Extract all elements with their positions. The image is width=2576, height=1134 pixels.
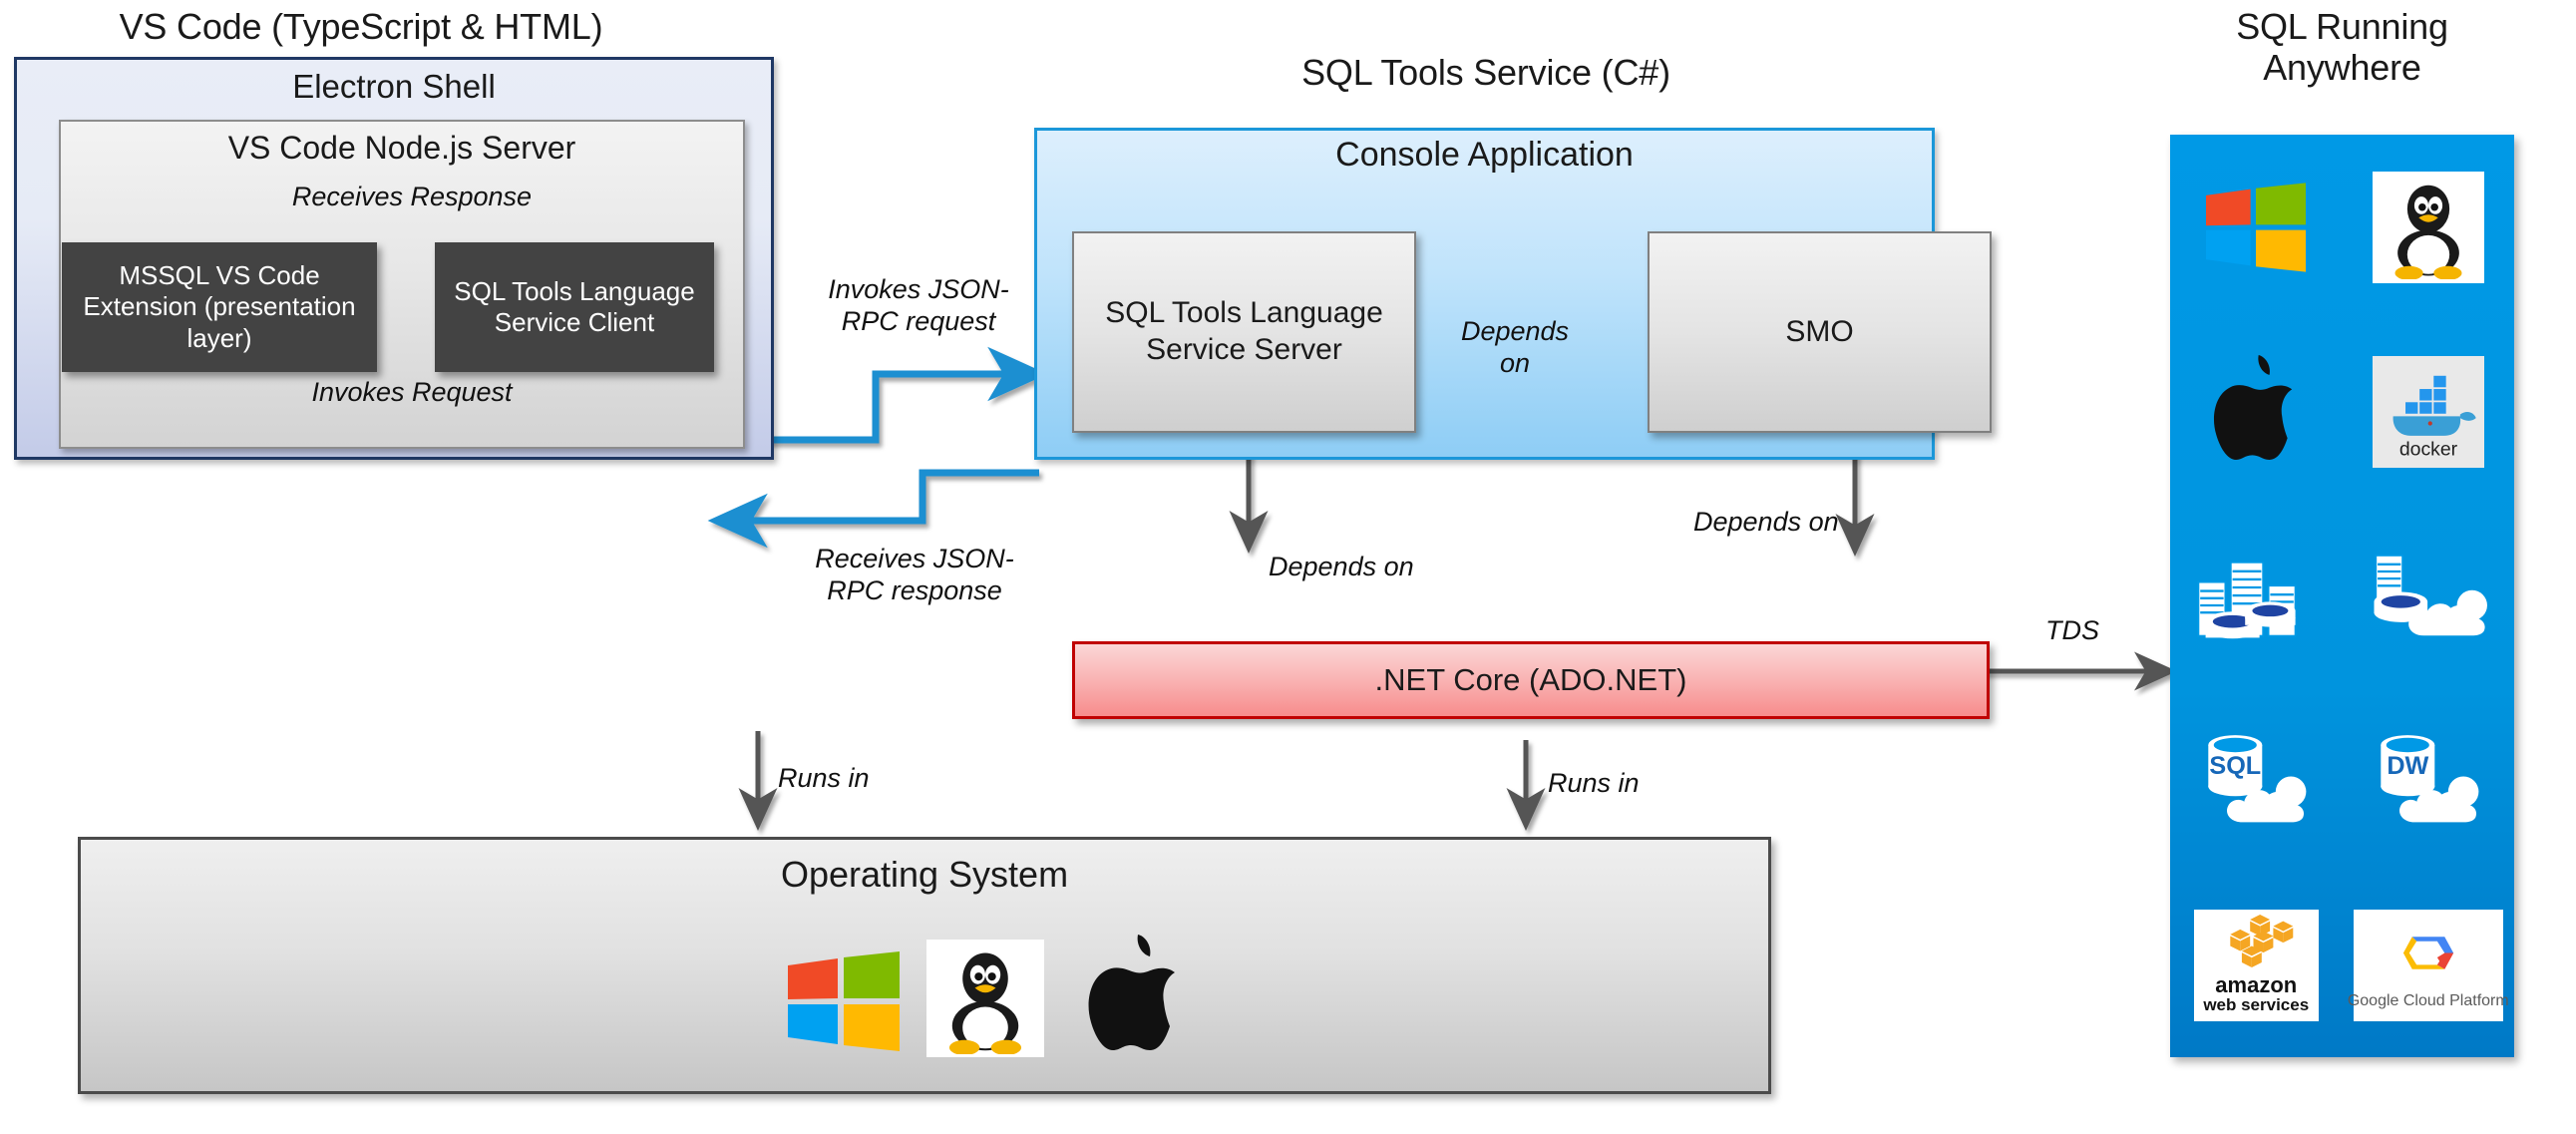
electron-shell-title: Electron Shell (17, 68, 771, 106)
sql-tools-language-service-client-box[interactable]: SQL Tools Language Service Client (435, 242, 714, 372)
sql-running-anywhere-panel: docker (2170, 135, 2514, 1057)
cloud-database-icon (2362, 543, 2495, 650)
linux-penguin-icon (926, 940, 1044, 1057)
apple-icon (2208, 355, 2304, 469)
label-invokes-request: Invokes Request (242, 377, 581, 409)
label-invokes-jsonrpc-request: Invokes JSON- RPC request (804, 274, 1033, 338)
label-depends-on-netcore-right: Depends on (1693, 507, 1953, 539)
google-cloud-platform-icon: Google Cloud Platform (2354, 910, 2503, 1021)
aws-wordmark-line1: amazon (2215, 974, 2297, 996)
label-tds: TDS (2018, 615, 2127, 647)
vscode-nodejs-server-title: VS Code Node.js Server (61, 130, 743, 167)
operating-system-panel: Operating System (78, 837, 1771, 1094)
sql-db-label: SQL (2210, 751, 2262, 779)
azure-sql-database-icon: SQL (2188, 727, 2324, 835)
sql-tools-language-service-server-box[interactable]: SQL Tools Language Service Server (1072, 231, 1416, 433)
operating-system-title: Operating System (81, 854, 1768, 896)
linux-penguin-icon (2373, 172, 2484, 283)
azure-sql-data-warehouse-icon: DW (2361, 727, 2496, 835)
on-premises-datacenter-icon (2193, 543, 2319, 650)
label-depends-on-smo: Depends on (1430, 316, 1600, 380)
aws-wordmark-line2: web services (2203, 996, 2309, 1015)
smo-box[interactable]: SMO (1648, 231, 1992, 433)
diagram-canvas: VS Code (TypeScript & HTML) SQL Tools Se… (0, 0, 2576, 1134)
dw-db-label: DW (2387, 751, 2428, 779)
apple-icon (1082, 935, 1188, 1060)
windows-icon (2206, 183, 2306, 272)
label-receives-response: Receives Response (242, 182, 581, 213)
mssql-vscode-extension-box[interactable]: MSSQL VS Code Extension (presentation la… (62, 242, 377, 372)
label-depends-on-netcore-left: Depends on (1269, 552, 1528, 583)
gcp-wordmark: Google Cloud Platform (2348, 992, 2509, 1010)
docker-icon: docker (2373, 356, 2484, 468)
dotnet-core-adonet-box[interactable]: .NET Core (ADO.NET) (1072, 641, 1990, 719)
amazon-web-services-icon: amazon web services (2194, 910, 2319, 1021)
label-runs-in-left: Runs in (778, 763, 977, 795)
label-runs-in-right: Runs in (1548, 768, 1747, 800)
windows-icon (788, 951, 900, 1051)
caption-sql-running-anywhere: SQL Running Anywhere (2170, 6, 2514, 89)
caption-sqltools-service: SQL Tools Service (C#) (1087, 52, 1885, 93)
platform-icon-grid: docker (2170, 135, 2514, 1057)
caption-vscode: VS Code (TypeScript & HTML) (12, 6, 710, 47)
label-receives-jsonrpc-response: Receives JSON- RPC response (795, 544, 1034, 607)
svg-text:docker: docker (2399, 438, 2458, 460)
console-application-title: Console Application (1037, 136, 1932, 175)
